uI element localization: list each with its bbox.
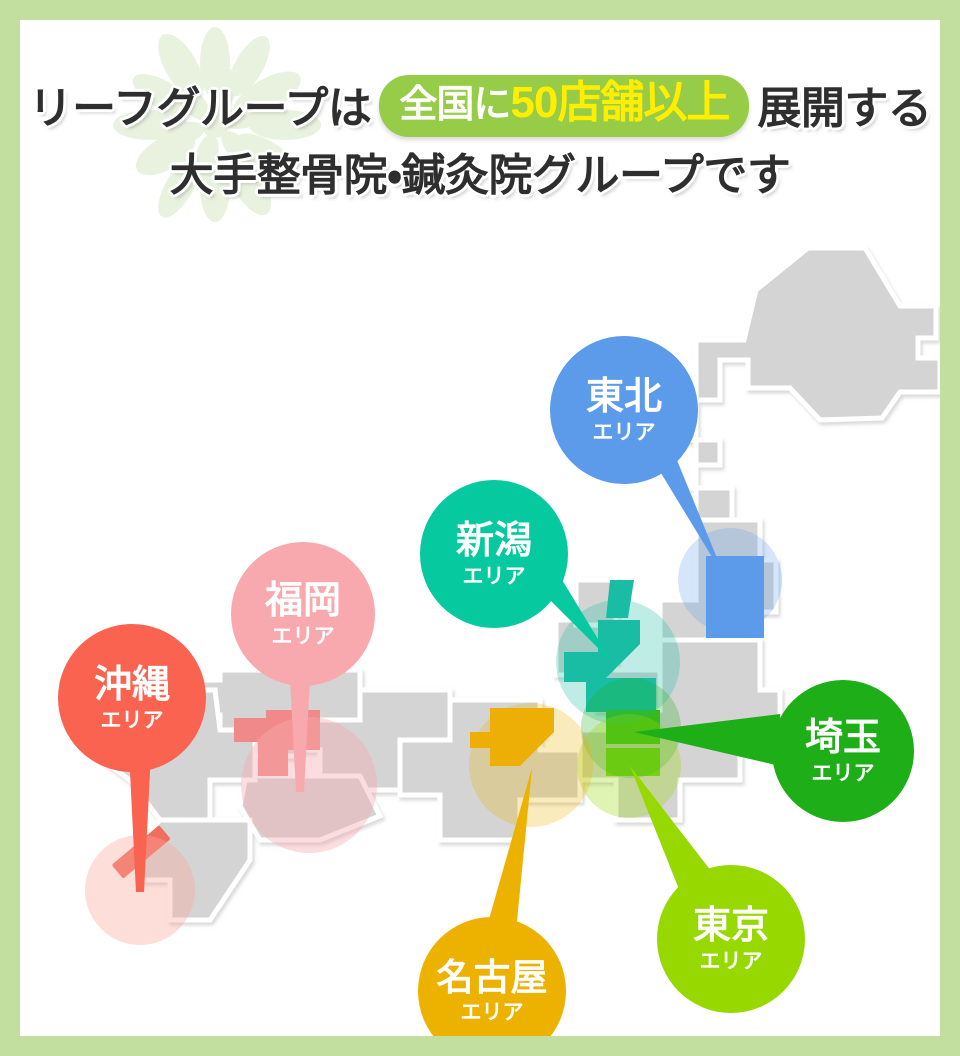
- pin-saitama-name: 埼玉: [805, 719, 881, 757]
- halo-tohoku: [678, 528, 782, 632]
- headline-suffix: 展開する: [757, 83, 931, 135]
- pin-niigata-sub: エリア: [463, 566, 526, 587]
- pin-tokyo-sub: エリア: [700, 951, 763, 972]
- headline-prefix: リーフグループは: [29, 83, 372, 135]
- pin-okinawa-sub: エリア: [101, 710, 164, 731]
- pin-fukuoka-bubble[interactable]: 福岡 エリア: [231, 542, 375, 686]
- pin-tohoku-name: 東北: [586, 378, 662, 416]
- pin-tokyo-bubble[interactable]: 東京 エリア: [657, 865, 805, 1013]
- pin-okinawa-name: 沖縄: [94, 666, 170, 704]
- pin-niigata-name: 新潟: [456, 522, 532, 560]
- pin-tohoku-sub: エリア: [593, 422, 656, 443]
- pin-nagoya-name: 名古屋: [437, 959, 548, 996]
- pin-tohoku-bubble[interactable]: 東北 エリア: [550, 336, 698, 484]
- store-count-badge: 全国に50店舗以上: [379, 75, 749, 137]
- pin-tokyo-name: 東京: [693, 907, 769, 945]
- japan-map-area: 沖縄 エリア 福岡 エリア 新潟 エリア 東北 エリア: [20, 220, 940, 1036]
- headline-line-2: 大手整骨院・鍼灸院グループです: [20, 150, 940, 202]
- badge-emphasis-text: 50店舗以上: [510, 78, 729, 127]
- pin-saitama-sub: エリア: [812, 763, 875, 784]
- halo-fukuoka: [241, 717, 377, 853]
- halo-nagoya: [469, 703, 593, 827]
- infographic-root: リーフグループは全国に50店舗以上展開する 大手整骨院・鍼灸院グループです: [0, 0, 960, 1056]
- pin-nagoya-sub: エリア: [461, 1002, 524, 1023]
- pin-fukuoka-sub: エリア: [272, 626, 335, 647]
- header: リーフグループは全国に50店舗以上展開する 大手整骨院・鍼灸院グループです: [20, 20, 940, 220]
- pin-fukuoka-name: 福岡: [265, 582, 341, 620]
- content-card: リーフグループは全国に50店舗以上展開する 大手整骨院・鍼灸院グループです: [20, 20, 940, 1036]
- pin-okinawa-bubble[interactable]: 沖縄 エリア: [58, 624, 206, 772]
- pin-saitama-bubble[interactable]: 埼玉 エリア: [772, 680, 914, 822]
- pin-niigata-bubble[interactable]: 新潟 エリア: [420, 480, 568, 628]
- headline-line-1: リーフグループは全国に50店舗以上展開する: [20, 78, 940, 140]
- badge-prefix-text: 全国に: [399, 84, 510, 126]
